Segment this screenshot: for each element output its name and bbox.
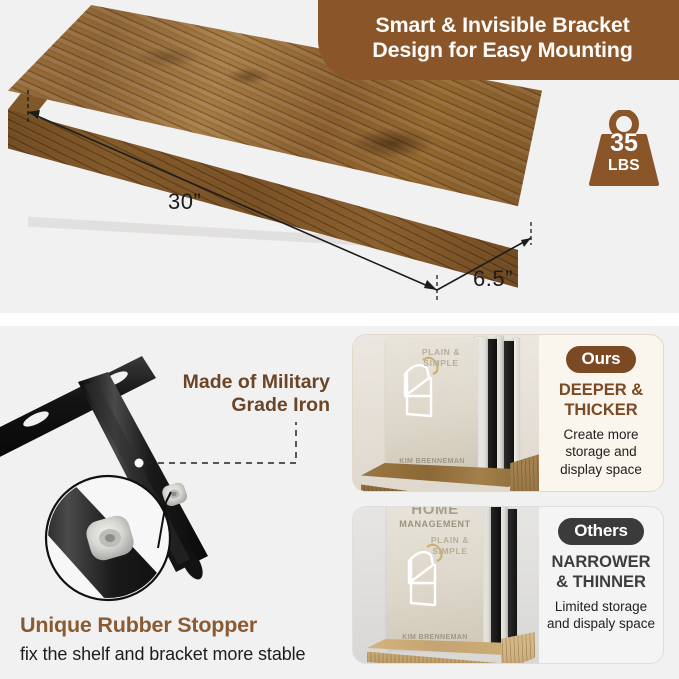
others-badge: Others bbox=[558, 518, 644, 545]
book-title-line0: HOME bbox=[387, 507, 483, 518]
book-spine bbox=[491, 507, 501, 649]
book-spine bbox=[501, 507, 508, 649]
ours-headline: DEEPER & THICKER bbox=[545, 380, 657, 420]
others-subline: Limited storage and dispaly space bbox=[545, 598, 657, 633]
ours-subline: Create more storage and display space bbox=[545, 426, 657, 479]
book-title-line2: SIMPLE bbox=[406, 358, 476, 368]
rubber-stopper-subtitle: fix the shelf and bracket more stable bbox=[20, 644, 305, 665]
ours-photo: PLAIN & SIMPLE KIM BRENNEMAN bbox=[353, 335, 539, 491]
book-spine bbox=[514, 338, 520, 475]
rubber-stopper-title: Unique Rubber Stopper bbox=[20, 613, 257, 638]
dimension-length-label: 30” bbox=[168, 189, 201, 215]
weight-value: 35 bbox=[583, 131, 665, 156]
header-banner: Smart & Invisible Bracket Design for Eas… bbox=[318, 0, 679, 80]
ours-badge: Ours bbox=[566, 346, 637, 373]
weight-unit: LBS bbox=[583, 158, 665, 174]
product-infographic: 30” 6.5” Smart & Invisible Bracket Desig… bbox=[0, 0, 679, 679]
others-headline: NARROWER & THINNER bbox=[545, 552, 657, 592]
book-cover: PLAIN & SIMPLE KIM BRENNEMAN bbox=[386, 338, 478, 474]
bottom-section: Made of Military Grade Iron Unique Rubbe… bbox=[0, 326, 679, 679]
book-title-line3: SIMPLE bbox=[417, 546, 483, 556]
others-info: Others NARROWER & THINNER Limited storag… bbox=[539, 507, 663, 663]
banner-title: Smart & Invisible Bracket Design for Eas… bbox=[372, 13, 632, 63]
others-photo: HOME MANAGEMENT PLAIN & SIMPLE KIM BRENN… bbox=[353, 507, 539, 663]
top-section: 30” 6.5” Smart & Invisible Bracket Desig… bbox=[0, 0, 679, 313]
bracket-material-callout: Made of Military Grade Iron bbox=[140, 371, 330, 418]
book-title-line2: PLAIN & bbox=[417, 535, 483, 545]
bracket-illustration bbox=[0, 326, 340, 616]
book-spine bbox=[497, 336, 504, 475]
comparison-card-others: HOME MANAGEMENT PLAIN & SIMPLE KIM BRENN… bbox=[352, 506, 664, 664]
banner-title-line2: Design for Easy Mounting bbox=[372, 38, 632, 62]
ours-info: Ours DEEPER & THICKER Create more storag… bbox=[539, 335, 663, 491]
bracket-material-line2: Grade Iron bbox=[231, 394, 330, 416]
dimension-depth-label: 6.5” bbox=[473, 266, 513, 292]
book-title-line1: PLAIN & bbox=[406, 347, 476, 357]
bracket-material-line1: Made of Military bbox=[183, 371, 330, 393]
book-cover: HOME MANAGEMENT PLAIN & SIMPLE KIM BRENN… bbox=[387, 507, 483, 649]
banner-title-line1: Smart & Invisible Bracket bbox=[375, 13, 629, 37]
book-spine bbox=[488, 339, 497, 475]
weight-capacity-badge: 35 LBS bbox=[583, 110, 665, 188]
bracket-callout-leader bbox=[135, 422, 297, 468]
book-title-line1: MANAGEMENT bbox=[387, 519, 483, 529]
comparison-card-ours: PLAIN & SIMPLE KIM BRENNEMAN Ours DEEPER… bbox=[352, 334, 664, 492]
section-divider bbox=[0, 313, 679, 326]
book-spine bbox=[504, 341, 514, 475]
book-spine bbox=[508, 509, 517, 649]
